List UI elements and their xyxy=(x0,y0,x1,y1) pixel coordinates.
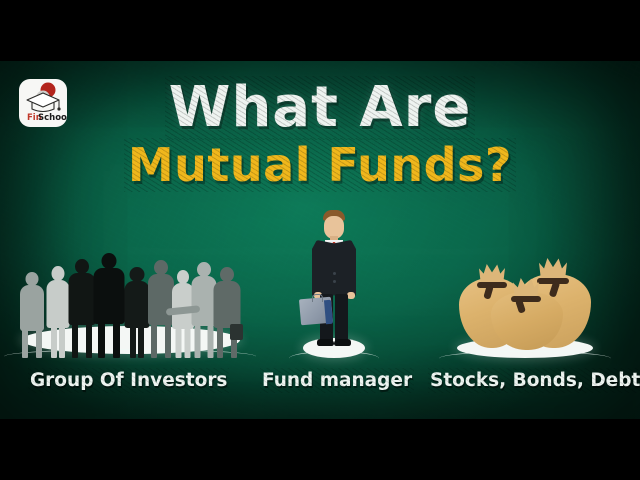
shoe-shape xyxy=(334,339,351,346)
hand-shape xyxy=(347,292,355,299)
briefcase-handle xyxy=(312,294,323,302)
bags-platform-arc xyxy=(439,351,611,366)
jacket-right-shape xyxy=(334,240,356,296)
video-frame: Fin School What Are Mutual Funds? xyxy=(0,0,640,480)
title-line-2: Mutual Funds? xyxy=(128,142,512,188)
investor-silhouette xyxy=(213,267,240,358)
investor-silhouette xyxy=(68,259,95,358)
investor-silhouette xyxy=(20,272,44,358)
finschool-logo[interactable]: Fin School xyxy=(19,79,67,127)
money-bags-illustration xyxy=(455,252,595,358)
title-line-1: What Are xyxy=(169,80,472,136)
briefcase-shape xyxy=(230,324,243,340)
caption-row: Group Of Investors Fund manager Stocks, … xyxy=(0,370,640,400)
trouser-right-shape xyxy=(335,294,348,342)
finschool-logo-icon: Fin School xyxy=(19,79,67,127)
letterbox-bottom xyxy=(0,419,640,480)
caption-stocks-bonds-debt: Stocks, Bonds, Debt xyxy=(430,370,640,391)
jacket-button xyxy=(333,280,336,283)
jacket-left-shape xyxy=(312,240,334,296)
caption-fund-manager: Fund manager xyxy=(262,370,412,391)
title-block: What Are Mutual Funds? xyxy=(0,80,640,188)
group-of-investors-illustration xyxy=(14,232,246,358)
investor-silhouette xyxy=(93,253,124,358)
shoe-shape xyxy=(317,339,334,346)
investor-silhouette xyxy=(46,266,69,358)
svg-text:School: School xyxy=(38,113,67,123)
manager-platform-arc xyxy=(289,351,379,366)
jacket-button xyxy=(333,272,336,275)
investor-silhouette xyxy=(124,267,149,358)
letterbox-top xyxy=(0,0,640,61)
caption-group-of-investors: Group Of Investors xyxy=(30,370,227,391)
fund-manager-illustration xyxy=(295,210,373,358)
